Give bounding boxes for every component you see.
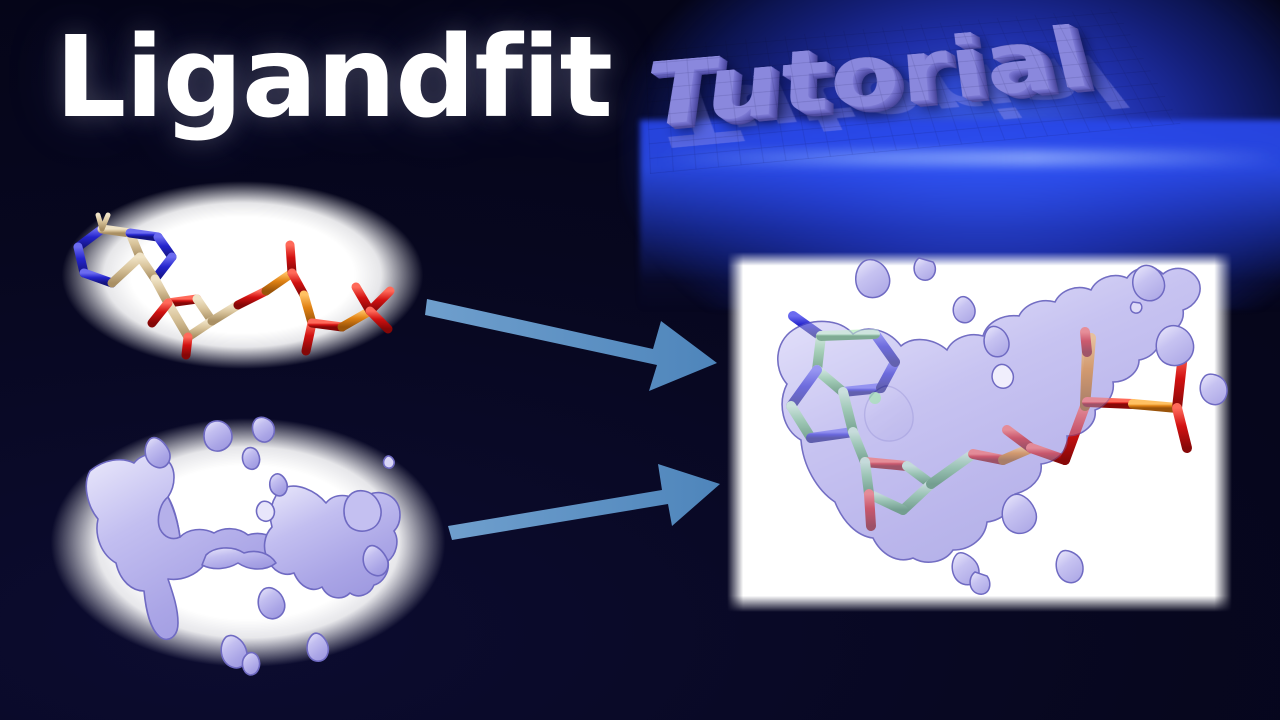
arrow-density-to-result: [448, 458, 728, 548]
tutorial-word-group: Tutorial Tutorial: [650, 14, 1230, 274]
fitted-ligand-in-density: [735, 258, 1230, 608]
title-card: Tutorial Tutorial Ligandfit: [0, 0, 1280, 720]
electron-density-blobs: [50, 415, 450, 675]
arrow-ligand-to-result: [425, 285, 725, 395]
page-title: Ligandfit: [55, 22, 612, 134]
ligand-stick-model: [60, 195, 430, 355]
tutorial-word: Tutorial: [645, 8, 1181, 174]
